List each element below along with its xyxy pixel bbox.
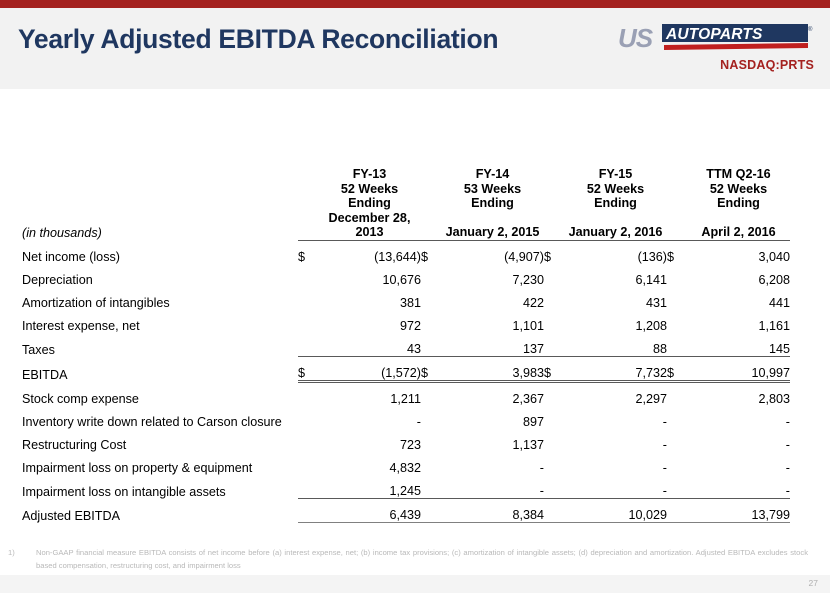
cell-value: 422 [441,287,544,310]
currency-symbol [421,287,441,310]
row-label: Adjusted EBITDA [22,499,298,523]
table-row: Interest expense, net9721,1011,2081,161 [22,310,790,333]
currency-symbol [544,382,564,407]
table-header-row: FY-13FY-14FY-15TTM Q2-16 [22,160,790,182]
currency-symbol [544,406,564,429]
cell-value: - [441,475,544,499]
currency-symbol [298,499,318,523]
cell-value: - [564,429,667,452]
cell-value: 10,997 [687,357,790,382]
currency-symbol [544,429,564,452]
cell-value: (1,572) [318,357,421,382]
currency-symbol [421,429,441,452]
currency-symbol [667,429,687,452]
currency-symbol [667,406,687,429]
currency-symbol [544,475,564,499]
cell-value: 723 [318,429,421,452]
header-spacer [667,182,687,211]
column-header-weeks-2: 52 Weeks Ending [564,182,667,211]
table-row: Stock comp expense1,2112,3672,2972,803 [22,382,790,407]
header-spacer [298,182,318,211]
table-row: Impairment loss on property & equipment4… [22,452,790,475]
currency-symbol [667,452,687,475]
row-label: Stock comp expense [22,382,298,407]
footnote-text: Non-GAAP financial measure EBITDA consis… [36,546,808,573]
ebitda-reconciliation-table: FY-13FY-14FY-15TTM Q2-1652 Weeks Ending5… [22,160,790,523]
page-title: Yearly Adjusted EBITDA Reconciliation [18,24,498,55]
cell-value: 4,832 [318,452,421,475]
table-row: Adjusted EBITDA6,4398,38410,02913,799 [22,499,790,523]
cell-value: 1,161 [687,310,790,333]
cell-value: 2,803 [687,382,790,407]
svg-text:AUTOPARTS: AUTOPARTS [665,26,763,43]
table-row: Depreciation10,6767,2306,1416,208 [22,264,790,287]
currency-symbol: $ [544,357,564,382]
cell-value: (4,907) [441,241,544,265]
cell-value: 897 [441,406,544,429]
column-header-fy-1: FY-14 [441,160,544,182]
footnote: 1) Non-GAAP financial measure EBITDA con… [8,546,808,573]
header-spacer [667,160,687,182]
header-spacer [544,182,564,211]
currency-symbol [667,333,687,357]
column-header-date-2: January 2, 2016 [564,211,667,241]
header-spacer [298,211,318,241]
cell-value: 1,245 [318,475,421,499]
currency-symbol [298,382,318,407]
column-header-fy-2: FY-15 [564,160,667,182]
cell-value: - [687,475,790,499]
header-spacer [421,160,441,182]
cell-value: 2,367 [441,382,544,407]
cell-value: 6,141 [564,264,667,287]
currency-symbol: $ [421,357,441,382]
svg-text:US: US [618,24,654,53]
currency-symbol [544,333,564,357]
table-row: EBITDA$(1,572)$3,983$7,732$10,997 [22,357,790,382]
currency-symbol [421,499,441,523]
currency-symbol [421,264,441,287]
column-header-date-1: January 2, 2015 [441,211,544,241]
currency-symbol: $ [298,241,318,265]
row-label: Interest expense, net [22,310,298,333]
cell-value: - [687,429,790,452]
currency-symbol [421,452,441,475]
currency-symbol [667,287,687,310]
slide: Yearly Adjusted EBITDA Reconciliation US… [0,0,830,593]
currency-symbol [544,287,564,310]
cell-value: 3,040 [687,241,790,265]
currency-symbol [421,406,441,429]
footer-band [0,575,830,593]
cell-value: (136) [564,241,667,265]
currency-symbol [421,475,441,499]
cell-value: - [687,452,790,475]
cell-value: 137 [441,333,544,357]
table-row: Taxes4313788145 [22,333,790,357]
table-row: Inventory write down related to Carson c… [22,406,790,429]
cell-value: 972 [318,310,421,333]
column-header-date-3: April 2, 2016 [687,211,790,241]
cell-value: 43 [318,333,421,357]
cell-value: 1,101 [441,310,544,333]
cell-value: 441 [687,287,790,310]
cell-value: 10,029 [564,499,667,523]
row-label: Amortization of intangibles [22,287,298,310]
row-label: EBITDA [22,357,298,382]
column-header-fy-3: TTM Q2-16 [687,160,790,182]
currency-symbol [667,382,687,407]
currency-symbol [298,475,318,499]
column-header-weeks-1: 53 Weeks Ending [441,182,544,211]
svg-text:®: ® [808,26,813,33]
row-label: Net income (loss) [22,241,298,265]
currency-symbol: $ [544,241,564,265]
table-row: Net income (loss)$(13,644)$(4,907)$(136)… [22,241,790,265]
footnote-number: 1) [8,546,15,559]
cell-value: - [564,475,667,499]
row-label: Depreciation [22,264,298,287]
units-label: (in thousands) [22,211,298,241]
currency-symbol [667,475,687,499]
currency-symbol [667,499,687,523]
row-label: Impairment loss on intangible assets [22,475,298,499]
cell-value: 7,732 [564,357,667,382]
cell-value: 1,208 [564,310,667,333]
row-label: Restructuring Cost [22,429,298,452]
top-accent-bar [0,0,830,8]
currency-symbol [298,452,318,475]
column-header-weeks-3: 52 Weeks Ending [687,182,790,211]
cell-value: 6,439 [318,499,421,523]
row-label: Impairment loss on property & equipment [22,452,298,475]
stock-ticker: NASDAQ:PRTS [618,58,814,72]
cell-value: - [687,406,790,429]
currency-symbol [298,310,318,333]
currency-symbol: $ [667,357,687,382]
table-row: Impairment loss on intangible assets1,24… [22,475,790,499]
currency-symbol [298,429,318,452]
cell-value: 10,676 [318,264,421,287]
cell-value: 381 [318,287,421,310]
header-spacer [421,211,441,241]
currency-symbol [544,499,564,523]
cell-value: 1,211 [318,382,421,407]
header-spacer [667,211,687,241]
cell-value: 431 [564,287,667,310]
currency-symbol [667,310,687,333]
header-spacer [421,182,441,211]
cell-value: 3,983 [441,357,544,382]
currency-symbol [544,452,564,475]
cell-value: 8,384 [441,499,544,523]
table-row: Amortization of intangibles381422431441 [22,287,790,310]
cell-value: - [564,406,667,429]
column-header-date-0: December 28, 2013 [318,211,421,241]
currency-symbol [298,333,318,357]
cell-value: 7,230 [441,264,544,287]
currency-symbol: $ [298,357,318,382]
currency-symbol [544,310,564,333]
table-header-row: 52 Weeks Ending53 Weeks Ending52 Weeks E… [22,182,790,211]
currency-symbol [544,264,564,287]
currency-symbol: $ [667,241,687,265]
cell-value: - [441,452,544,475]
table-row: Restructuring Cost7231,137-- [22,429,790,452]
cell-value: (13,644) [318,241,421,265]
currency-symbol [298,406,318,429]
column-header-fy-0: FY-13 [318,160,421,182]
currency-symbol [667,264,687,287]
table-body: FY-13FY-14FY-15TTM Q2-1652 Weeks Ending5… [22,160,790,523]
header-spacer [544,160,564,182]
cell-value: 2,297 [564,382,667,407]
header-spacer [298,160,318,182]
currency-symbol [421,382,441,407]
currency-symbol [421,310,441,333]
currency-symbol [421,333,441,357]
cell-value: - [564,452,667,475]
currency-symbol: $ [421,241,441,265]
cell-value: 1,137 [441,429,544,452]
cell-value: 145 [687,333,790,357]
cell-value: - [318,406,421,429]
cell-value: 88 [564,333,667,357]
cell-value: 13,799 [687,499,790,523]
row-label: Taxes [22,333,298,357]
header-spacer [544,211,564,241]
us-autoparts-logo: US AUTOPARTS ® [618,24,814,54]
page-number: 27 [809,578,818,588]
table-header-row: (in thousands)December 28, 2013January 2… [22,211,790,241]
cell-value: 6,208 [687,264,790,287]
row-label: Inventory write down related to Carson c… [22,406,298,429]
currency-symbol [298,264,318,287]
column-header-weeks-0: 52 Weeks Ending [318,182,421,211]
currency-symbol [298,287,318,310]
